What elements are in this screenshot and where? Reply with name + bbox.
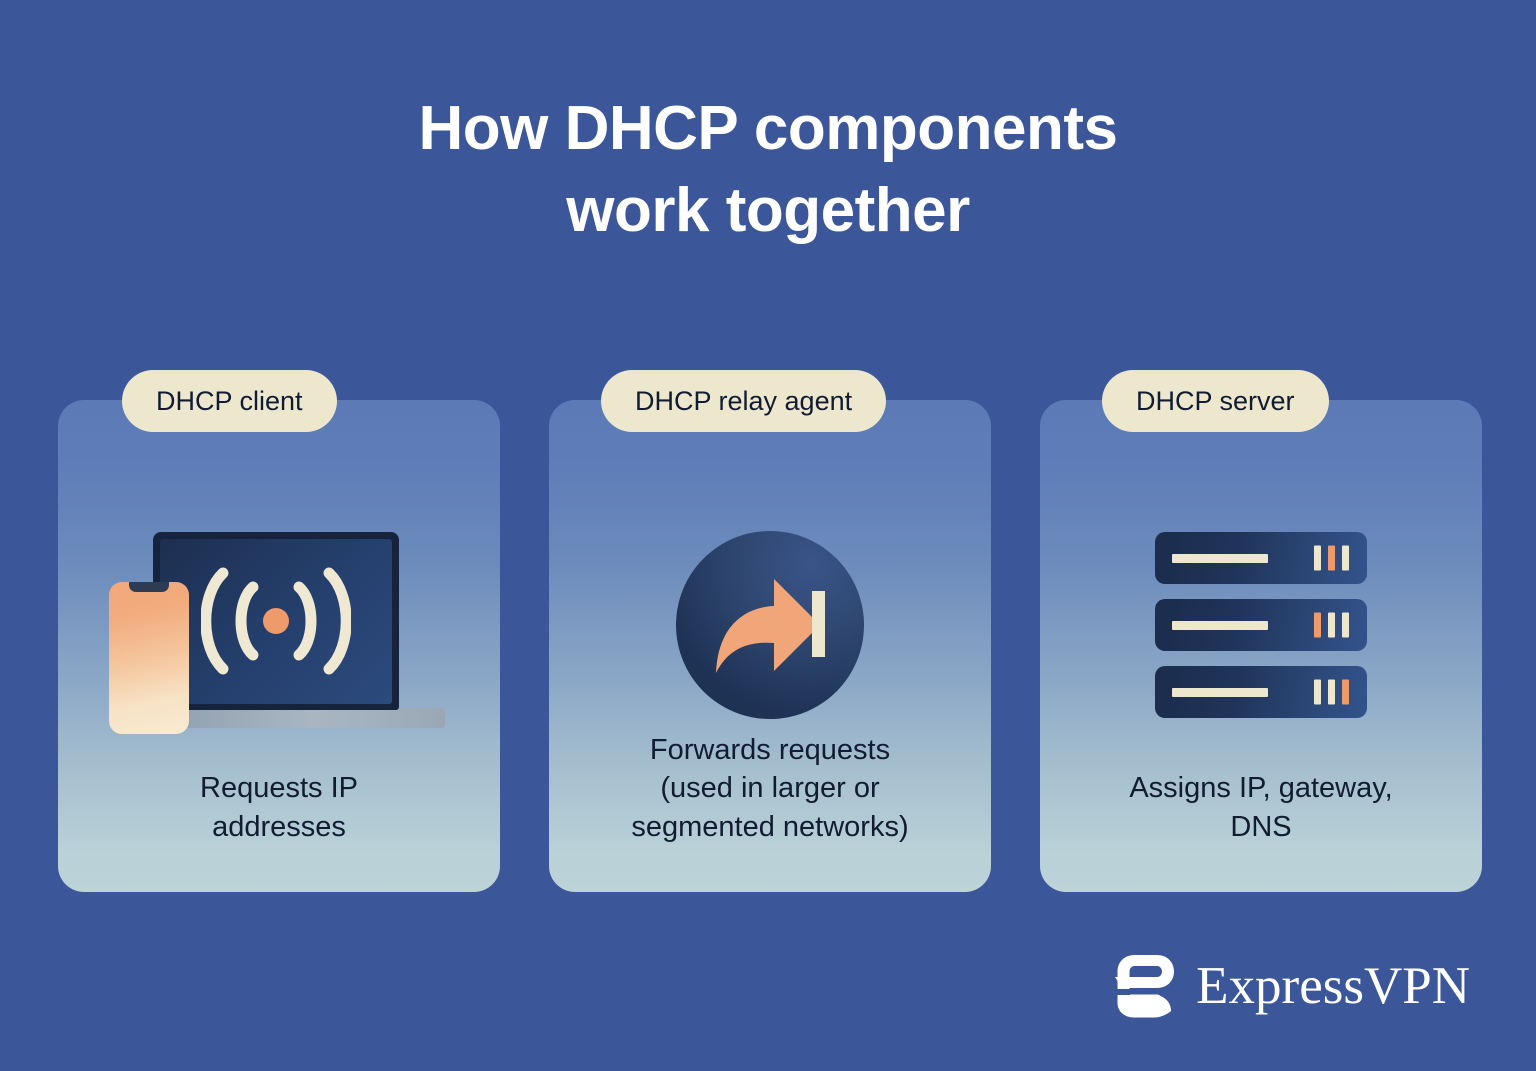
rack-led-group: [1314, 546, 1349, 571]
caption-line: DNS: [1054, 808, 1468, 846]
wifi-center-dot: [263, 608, 289, 634]
page-title-line-2: work together: [0, 170, 1536, 252]
smartphone-icon: [109, 582, 189, 734]
component-cards-row: Requests IP addresses Forwards requests …: [58, 400, 1482, 892]
badge-dhcp-client: DHCP client: [122, 370, 337, 432]
laptop-screen: [160, 539, 392, 704]
rack-led: [1328, 680, 1335, 705]
caption-line: Assigns IP, gateway,: [1054, 769, 1468, 807]
caption-line: segmented networks): [563, 808, 977, 846]
rack-led-group: [1314, 680, 1349, 705]
expressvpn-logo: ExpressVPN: [1113, 953, 1470, 1019]
card-dhcp-server-caption: Assigns IP, gateway, DNS: [1054, 769, 1468, 846]
caption-line: Forwards requests: [563, 731, 977, 769]
rack-bar: [1172, 688, 1268, 697]
rack-led-active: [1342, 680, 1349, 705]
card-dhcp-relay-agent-art: [549, 500, 991, 750]
card-dhcp-client-art: [58, 500, 500, 750]
rack-led: [1342, 613, 1349, 638]
rack-led-active: [1328, 546, 1335, 571]
phone-notch: [129, 582, 169, 592]
laptop-phone-wifi-icon: [109, 523, 449, 728]
badge-dhcp-relay-agent: DHCP relay agent: [601, 370, 886, 432]
server-rack-icon: [1155, 532, 1367, 718]
server-rack-unit: [1155, 599, 1367, 651]
rack-led: [1314, 546, 1321, 571]
caption-line: Requests IP: [72, 769, 486, 807]
rack-bar: [1172, 621, 1268, 630]
expressvpn-wordmark: ExpressVPN: [1196, 960, 1470, 1013]
forward-arrow-circle-icon: [676, 531, 864, 719]
caption-line: (used in larger or: [563, 769, 977, 807]
relay-endpoint-bar: [812, 591, 825, 657]
card-dhcp-server-art: [1040, 500, 1482, 750]
rack-led: [1328, 613, 1335, 638]
forward-arrow-icon: [708, 569, 832, 681]
caption-line: addresses: [72, 808, 486, 846]
card-dhcp-client-caption: Requests IP addresses: [72, 769, 486, 846]
card-dhcp-client: Requests IP addresses: [58, 400, 500, 892]
card-dhcp-relay-agent: Forwards requests (used in larger or seg…: [549, 400, 991, 892]
expressvpn-e-mark-icon: [1113, 953, 1175, 1019]
rack-bar: [1172, 554, 1268, 563]
rack-led-group: [1314, 613, 1349, 638]
page-title: How DHCP components work together: [0, 88, 1536, 252]
card-dhcp-relay-agent-caption: Forwards requests (used in larger or seg…: [563, 731, 977, 846]
badge-dhcp-server: DHCP server: [1102, 370, 1329, 432]
wifi-signal-icon: [201, 565, 351, 677]
server-rack-unit: [1155, 666, 1367, 718]
infographic-canvas: How DHCP components work together: [0, 0, 1536, 1071]
card-dhcp-server: Assigns IP, gateway, DNS: [1040, 400, 1482, 892]
rack-led: [1342, 546, 1349, 571]
page-title-line-1: How DHCP components: [0, 88, 1536, 170]
server-rack-unit: [1155, 532, 1367, 584]
rack-led: [1314, 680, 1321, 705]
laptop-body-icon: [153, 532, 399, 710]
rack-led-active: [1314, 613, 1321, 638]
